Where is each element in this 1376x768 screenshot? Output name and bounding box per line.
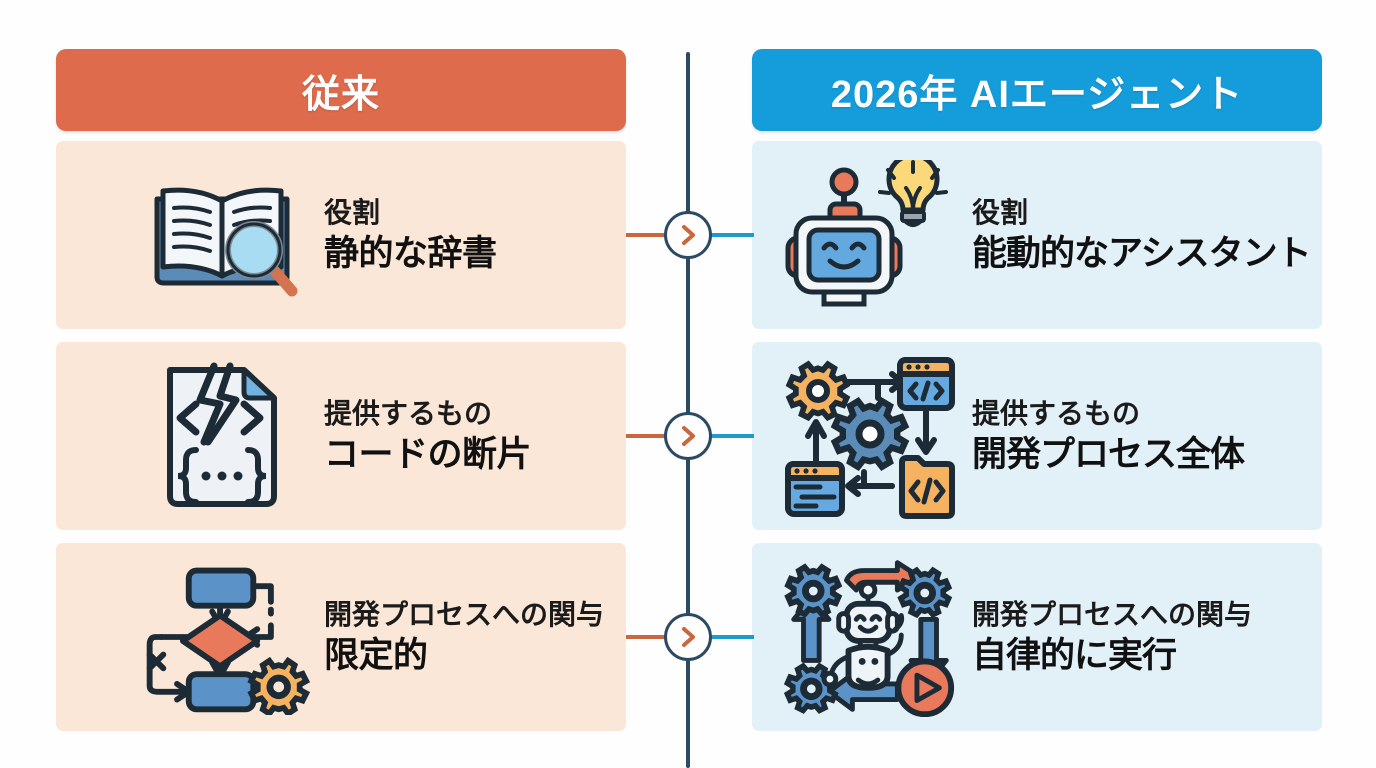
timeline-node-row-3[interactable] (664, 613, 712, 661)
chevron-right-icon (678, 223, 698, 247)
timeline-node-row-2[interactable] (664, 412, 712, 460)
column-header-ai-agent-label: 2026年 AIエージェント (831, 63, 1243, 118)
infographic-board: 従来 2026年 AIエージェント (0, 0, 1376, 768)
comparison-row-3-left-texts: 開発プロセスへの関与 限定的 (324, 600, 604, 675)
robot-lightbulb-icon (782, 160, 958, 310)
chevron-right-icon (678, 625, 698, 649)
workflow-gears-cycle-icon (782, 361, 958, 511)
comparison-row-3-left-panel: 開発プロセスへの関与 限定的 (56, 543, 626, 731)
row-2-left-value: コードの断片 (324, 436, 531, 473)
open-book-magnifier-icon (134, 160, 310, 310)
comparison-row-1-left-panel: 役割 静的な辞書 (56, 141, 626, 329)
row-2-left-label: 提供するもの (324, 399, 531, 429)
comparison-row-2-left-panel: 提供するもの コードの断片 (56, 342, 626, 530)
column-header-conventional: 従来 (56, 49, 626, 131)
row-1-left-label: 役割 (324, 198, 497, 228)
row-1-right-value: 能動的なアシスタント (972, 235, 1311, 272)
row-3-right-value: 自律的に実行 (972, 637, 1252, 674)
chevron-right-icon (678, 424, 698, 448)
comparison-row-2-right-panel: 提供するもの 開発プロセス全体 (752, 342, 1322, 530)
flowchart-broken-path-icon (134, 562, 310, 712)
connector-right-row-2 (706, 434, 754, 438)
row-2-right-value: 開発プロセス全体 (972, 436, 1244, 473)
column-header-conventional-label: 従来 (302, 63, 380, 118)
timeline-node-row-1[interactable] (664, 211, 712, 259)
autonomous-robot-cycle-icon (782, 562, 958, 712)
row-3-left-label: 開発プロセスへの関与 (324, 600, 604, 630)
comparison-row-1-right-panel: 役割 能動的なアシスタント (752, 141, 1322, 329)
column-header-ai-agent: 2026年 AIエージェント (752, 49, 1322, 131)
comparison-row-1-right-texts: 役割 能動的なアシスタント (972, 198, 1311, 273)
row-2-right-label: 提供するもの (972, 399, 1244, 429)
connector-right-row-3 (706, 635, 754, 639)
comparison-row-2-right-texts: 提供するもの 開発プロセス全体 (972, 399, 1244, 474)
connector-right-row-1 (706, 233, 754, 237)
row-3-left-value: 限定的 (324, 637, 604, 674)
comparison-row-3-right-texts: 開発プロセスへの関与 自律的に実行 (972, 600, 1252, 675)
torn-code-document-icon (134, 361, 310, 511)
row-1-right-label: 役割 (972, 198, 1311, 228)
row-1-left-value: 静的な辞書 (324, 235, 497, 272)
comparison-row-1-left-texts: 役割 静的な辞書 (324, 198, 497, 273)
comparison-row-3-right-panel: 開発プロセスへの関与 自律的に実行 (752, 543, 1322, 731)
comparison-row-2-left-texts: 提供するもの コードの断片 (324, 399, 531, 474)
row-3-right-label: 開発プロセスへの関与 (972, 600, 1252, 630)
